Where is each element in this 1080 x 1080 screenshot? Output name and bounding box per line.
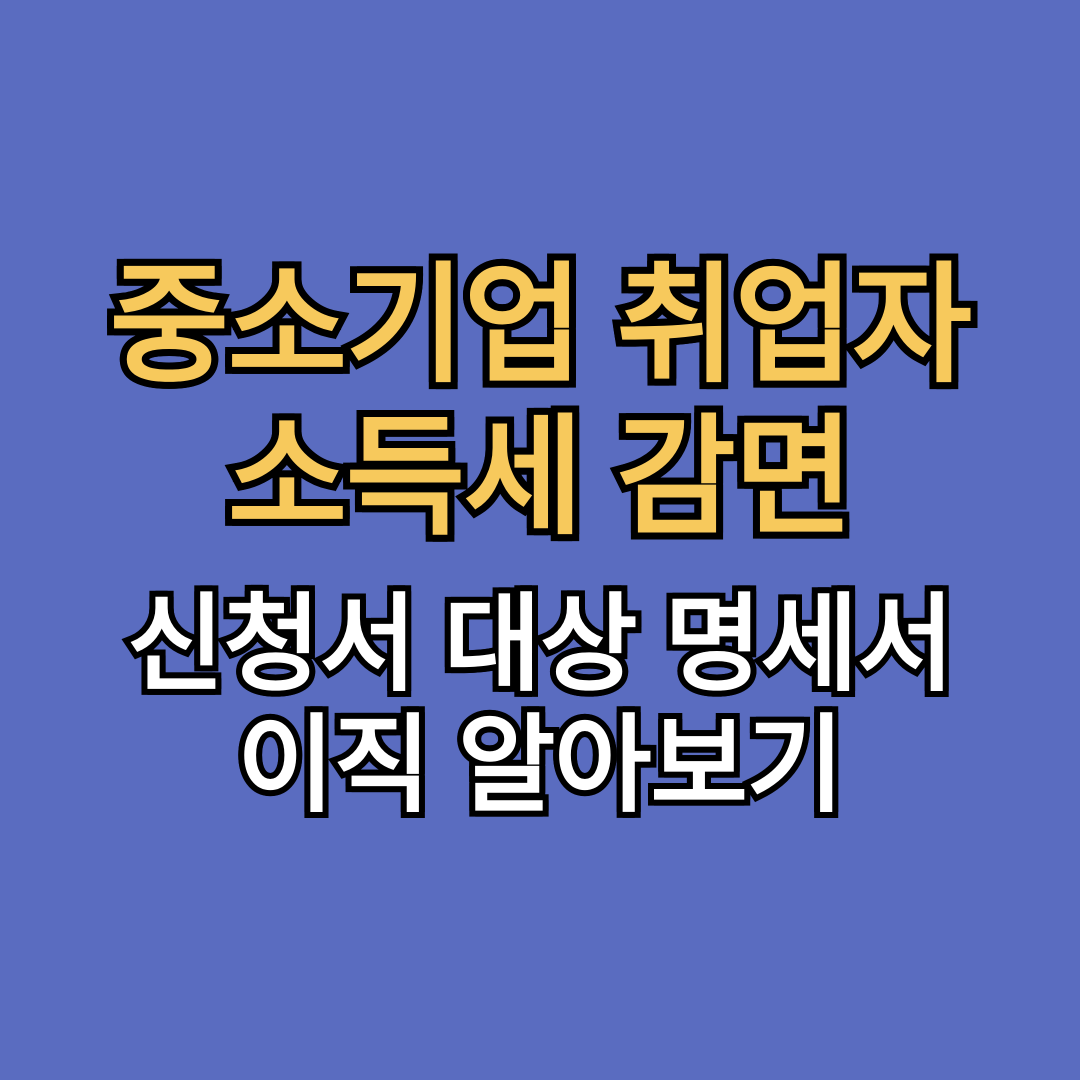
poster-canvas: 중소기업 취업자 소득세 감면 신청서 대상 명세서 이직 알아보기 [0,0,1080,1080]
subhead-line-2: 이직 알아보기 [127,712,953,821]
headline-line-2: 소득세 감면 [110,411,971,545]
headline-block: 중소기업 취업자 소득세 감면 [110,259,971,545]
headline-line-1: 중소기업 취업자 [110,259,971,393]
subhead-line-1: 신청서 대상 명세서 [127,591,953,700]
subhead-block: 신청서 대상 명세서 이직 알아보기 [127,591,953,821]
